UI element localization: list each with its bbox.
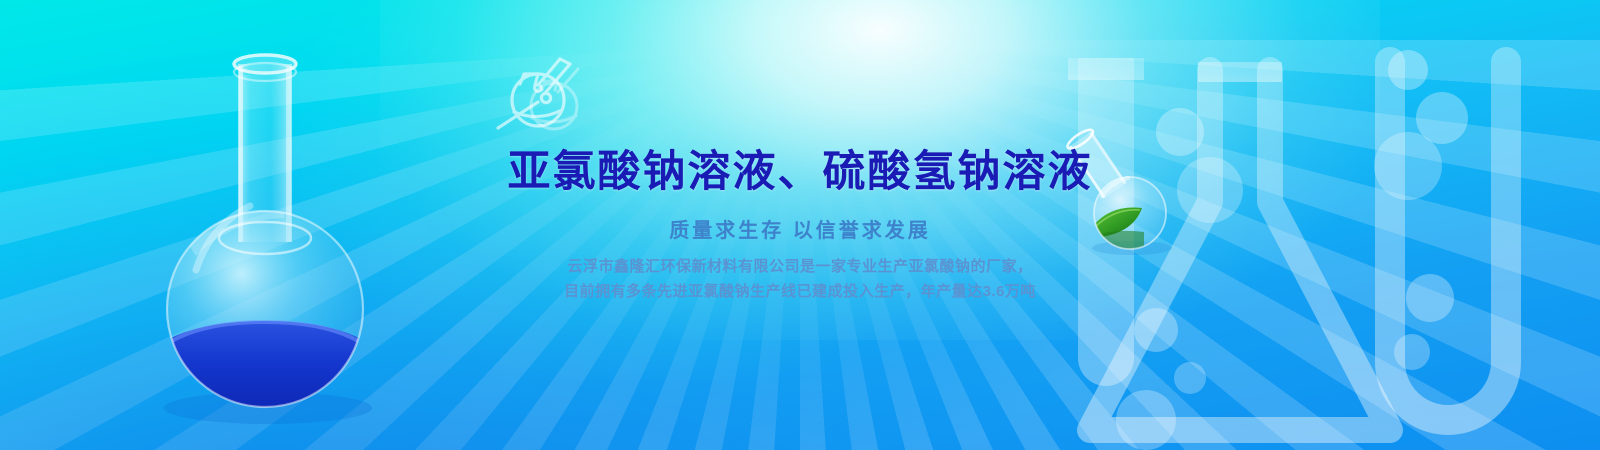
flask-outline-icon-secondary	[512, 56, 596, 140]
description-line-2: 目前拥有多条先进亚氯酸钠生产线已建成投入生产，年产量达3.6万吨	[0, 280, 1600, 305]
banner-description: 云浮市鑫隆汇环保新材料有限公司是一家专业生产亚氯酸钠的厂家， 目前拥有多条先进亚…	[0, 255, 1600, 305]
promo-banner: 亚氯酸钠溶液、硫酸氢钠溶液 质量求生存 以信誉求发展 云浮市鑫隆汇环保新材料有限…	[0, 0, 1600, 450]
banner-text-block: 亚氯酸钠溶液、硫酸氢钠溶液 质量求生存 以信誉求发展 云浮市鑫隆汇环保新材料有限…	[0, 148, 1600, 305]
banner-headline: 亚氯酸钠溶液、硫酸氢钠溶液	[0, 148, 1600, 197]
banner-slogan: 质量求生存 以信誉求发展	[0, 219, 1600, 243]
description-line-1: 云浮市鑫隆汇环保新材料有限公司是一家专业生产亚氯酸钠的厂家，	[0, 255, 1600, 280]
